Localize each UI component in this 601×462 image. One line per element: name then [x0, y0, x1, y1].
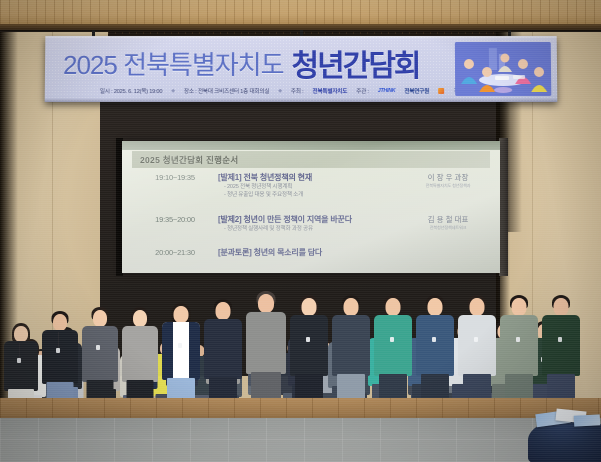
agenda-bullet: - 2025 전북 청년정책 시행계획	[218, 183, 406, 191]
agenda-bullet: - 청년정책 실행사례 및 정책화 과정 공유	[218, 225, 406, 233]
documents-on-table	[534, 408, 600, 428]
banner-date: 일시 : 2025. 6. 12(목) 19:00	[100, 87, 162, 95]
slide-top-bar	[122, 141, 500, 150]
center-logo-icon	[438, 88, 444, 94]
event-banner: 2025 전북특별자치도 청년간담회 일시 : 2025. 6. 12(목) 1…	[45, 36, 558, 102]
agenda-body: [발제2] 청년이 만든 정책이 지역을 바꾼다 - 청년정책 실행사례 및 정…	[218, 214, 406, 233]
ceiling-wood-slats	[0, 0, 601, 26]
illustration-svg	[455, 42, 551, 96]
floor-carpet	[0, 418, 601, 462]
banner-separator-icon: ◆	[171, 88, 175, 94]
agenda-row: 19:10~19:35 [발제1] 전북 청년정책의 현재 - 2025 전북 …	[132, 172, 490, 199]
agenda-time: 19:35~20:00	[132, 214, 218, 233]
banner-place: 장소 : 전북대 크비즈센터 1층 대회의실	[184, 87, 269, 95]
agenda-bullet: - 청년 유출입 대응 및 주요정책 소개	[218, 191, 406, 199]
agenda-speaker-org: 전북특별자치도 청년정책과	[406, 183, 490, 189]
banner-bottom-shadow	[45, 98, 558, 102]
agenda-time: 19:10~19:35	[132, 172, 218, 199]
agenda-row: 19:35~20:00 [발제2] 청년이 만든 정책이 지역을 바꾼다 - 청…	[132, 214, 490, 233]
youth-meeting-illustration	[455, 42, 551, 96]
banner-organizer-value: 전북연구원	[404, 87, 429, 95]
agenda-body: [발제1] 전북 청년정책의 현재 - 2025 전북 청년정책 시행계획 - …	[218, 172, 406, 199]
banner-organizer-logo-jthink: JTHINK	[378, 88, 396, 94]
photo-scene: 2025 청년간담회 진행순서 19:10~19:35 [발제1] 전북 청년정…	[0, 0, 601, 462]
agenda-speaker: 이 장 우 과장 전북특별자치도 청년정책과	[406, 172, 490, 199]
banner-details: 일시 : 2025. 6. 12(목) 19:00 ◆ 장소 : 전북대 크비즈…	[100, 84, 500, 98]
banner-organizer-label: 주관 :	[356, 87, 369, 95]
agenda-speaker-name: 이 장 우 과장	[406, 172, 490, 183]
document	[574, 414, 601, 426]
banner-title-bold: 청년간담회	[292, 41, 420, 85]
banner-title: 2025 전북특별자치도 청년간담회	[63, 45, 463, 81]
slide-title-bar: 2025 청년간담회 진행순서	[132, 151, 490, 168]
agenda-speaker-org: 전북청년정책네트워크	[406, 225, 490, 231]
banner-host-label: 주최 :	[291, 87, 304, 95]
carpet-tile-pattern	[0, 418, 601, 462]
banner-host-value: 전북특별자치도	[313, 87, 348, 95]
agenda-speaker-name: 김 용 철 대표	[406, 214, 490, 225]
slide-title-text: 2025 청년간담회 진행순서	[140, 154, 239, 166]
banner-title-thin: 2025 전북특별자치도	[63, 45, 284, 82]
agenda-title: [발제2] 청년이 만든 정책이 지역을 바꾼다	[218, 214, 406, 225]
agenda-speaker: 김 용 철 대표 전북청년정책네트워크	[406, 214, 490, 233]
banner-separator-icon: ◆	[278, 88, 282, 94]
agenda-title: [발제1] 전북 청년정책의 현재	[218, 172, 406, 183]
